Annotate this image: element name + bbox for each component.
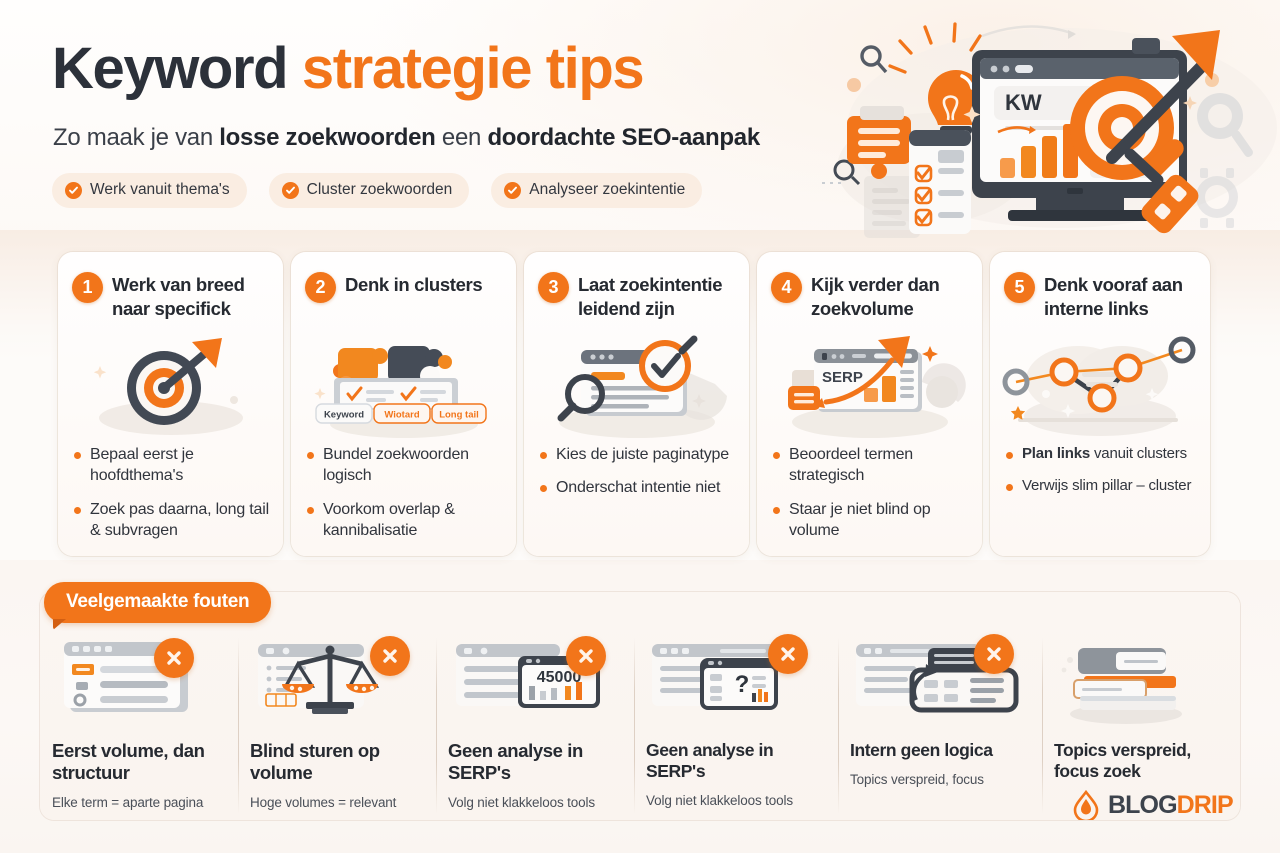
mistake-subtitle: Volg niet klakkeloos tools	[448, 795, 622, 810]
page-title-part1: Keyword	[52, 36, 287, 101]
serp-label: SERP	[822, 369, 863, 386]
step-bullets: Kies de juiste paginatype Onderschat int…	[540, 444, 737, 511]
question-mark: ?	[735, 671, 750, 698]
bullet-dot	[540, 452, 547, 459]
brand-part1: BLOG	[1108, 791, 1177, 819]
step-card-header: 1 Werk van breed naar specifick	[72, 272, 273, 321]
step-bullets: Bepaal eerst je hoofdthema's Zoek pas da…	[74, 444, 271, 553]
step-number-badge: 4	[771, 272, 802, 303]
bullet-bold: Plan links	[1022, 445, 1090, 462]
brand-logo: BLOGDRIP	[1073, 790, 1233, 820]
step-card-2[interactable]: 2 Denk in clusters	[291, 252, 516, 556]
step-bullets: Beoordeel termen strategisch Staar je ni…	[773, 444, 970, 553]
hero-pill-row: Werk vanuit thema's Cluster zoekwoorden …	[52, 173, 702, 208]
bullet-dot	[540, 485, 547, 492]
x-circle-icon	[154, 638, 194, 678]
hero-pill-themes[interactable]: Werk vanuit thema's	[52, 173, 247, 208]
step-card-title: Laat zoekintentie leidend zijn	[578, 272, 739, 321]
bullet-dot	[74, 452, 81, 459]
list-item: Verwijs slim pillar – cluster	[1006, 476, 1198, 496]
list-item: Plan links vanuit clusters	[1006, 444, 1198, 464]
bullet-text: Bundel zoekwoorden logisch	[323, 444, 504, 487]
step-number-badge: 5	[1004, 272, 1035, 303]
volume-chart-icon: 45000	[448, 634, 622, 726]
step-card-header: 4 Kijk verder dan zoekvolume	[771, 272, 972, 321]
bullet-text: Kies de juiste paginatype	[556, 444, 729, 465]
step-number-badge: 1	[72, 272, 103, 303]
bullet-text: Staar je niet blind op volume	[789, 499, 970, 542]
serp-growth-chart-icon: SERP	[767, 332, 972, 440]
target-arrow-icon	[68, 332, 273, 440]
bullet-dot	[74, 507, 81, 514]
mistakes-grid: Eerst volume, dan structuur Elke term = …	[40, 634, 1240, 820]
hero-pill-label: Werk vanuit thema's	[90, 181, 230, 199]
cluster-tag-2: Wiotard	[384, 410, 419, 421]
mistake-card-1[interactable]: Eerst volume, dan structuur Elke term = …	[40, 634, 238, 820]
mistake-title: Geen analyse in SERP's	[448, 740, 622, 784]
step-number-badge: 3	[538, 272, 569, 303]
bullet-text: Beoordeel termen strategisch	[789, 444, 970, 487]
mistake-title: Geen analyse in SERP's	[646, 740, 826, 782]
subtitle-bold-2: doordachte SEO-aanpak	[487, 124, 759, 151]
page-subtitle: Zo maak je van losse zoekwoorden een doo…	[53, 124, 760, 152]
cluster-tag-1: Keyword	[323, 410, 363, 421]
step-card-title: Kijk verder dan zoekvolume	[811, 272, 972, 321]
list-item: Zoek pas daarna, long tail & subvragen	[74, 499, 271, 542]
x-circle-icon	[768, 634, 808, 674]
list-item: Onderschat intentie niet	[540, 477, 737, 498]
x-circle-icon	[370, 636, 410, 676]
bullet-dot	[1006, 484, 1013, 491]
bullet-dot	[307, 452, 314, 459]
hero-pill-intent[interactable]: Analyseer zoekintentie	[491, 173, 702, 208]
page-title-part2: strategie tips	[302, 36, 643, 101]
mistake-subtitle: Volg niet klakkeloos tools	[646, 793, 826, 808]
hero-illustration: KW	[812, 8, 1280, 240]
check-circle-icon	[504, 182, 521, 199]
puzzle-pieces-icon: Keyword Wiotard Long tail	[301, 332, 506, 440]
question-serp-icon: ?	[646, 634, 826, 726]
subtitle-lead: Zo maak je van	[53, 124, 219, 151]
brand-wordmark: BLOGDRIP	[1108, 791, 1233, 820]
bullet-rest: vanuit clusters	[1090, 445, 1187, 462]
stacked-books-icon	[1054, 634, 1228, 726]
x-circle-icon	[974, 634, 1014, 674]
bullet-dot	[1006, 452, 1013, 459]
mistake-title: Intern geen logica	[850, 740, 1030, 761]
browser-list-icon	[52, 634, 226, 726]
bullet-text: Zoek pas daarna, long tail & subvragen	[90, 499, 271, 542]
mistake-card-5[interactable]: Intern geen logica Topics verspreid, foc…	[838, 634, 1042, 820]
x-circle-icon	[566, 636, 606, 676]
bullet-text: Voorkom overlap & kannibalisatie	[323, 499, 504, 542]
list-item: Bundel zoekwoorden logisch	[307, 444, 504, 487]
bullet-dot	[307, 507, 314, 514]
check-circle-icon	[282, 182, 299, 199]
page-title: Keyword strategie tips	[52, 40, 643, 98]
link-network-icon	[1000, 332, 1200, 440]
step-card-4[interactable]: 4 Kijk verder dan zoekvolume SERP	[757, 252, 982, 556]
hero-pill-cluster[interactable]: Cluster zoekwoorden	[269, 173, 470, 208]
mistake-card-2[interactable]: Blind sturen op volume Hoge volumes = re…	[238, 634, 436, 820]
bullet-text: Plan links vanuit clusters	[1022, 444, 1187, 464]
mistake-title: Eerst volume, dan structuur	[52, 740, 226, 784]
bullet-dot	[773, 452, 780, 459]
step-card-title: Werk van breed naar specifick	[112, 272, 273, 321]
list-item: Kies de juiste paginatype	[540, 444, 737, 465]
mistake-title: Topics verspreid, focus zoek	[1054, 740, 1228, 782]
hero-search-value: KW	[1005, 90, 1042, 115]
list-item: Voorkom overlap & kannibalisatie	[307, 499, 504, 542]
internal-links-icon	[850, 634, 1030, 726]
step-card-title: Denk in clusters	[345, 272, 482, 303]
subtitle-bold-1: losse zoekwoorden	[219, 124, 435, 151]
bullet-text: Onderschat intentie niet	[556, 477, 720, 498]
mistake-title: Blind sturen op volume	[250, 740, 424, 784]
hero-pill-label: Analyseer zoekintentie	[529, 181, 685, 199]
mistakes-badge: Veelgemaakte fouten	[44, 582, 271, 623]
step-card-1[interactable]: 1 Werk van breed naar specifick Bepaal e…	[58, 252, 283, 556]
hero-section: Keyword strategie tips Zo maak je van lo…	[0, 0, 1280, 246]
step-card-5[interactable]: 5 Denk vooraf aan interne links	[990, 252, 1210, 556]
bullet-text: Verwijs slim pillar – cluster	[1022, 476, 1191, 496]
mistake-card-4[interactable]: ? Geen analyse in SERP's Volg niet klakk…	[634, 634, 838, 820]
bullet-dot	[773, 507, 780, 514]
step-card-3[interactable]: 3 Laat zoekintentie leidend zijn	[524, 252, 749, 556]
hero-pill-label: Cluster zoekwoorden	[307, 181, 453, 199]
mistake-subtitle: Topics verspreid, focus	[850, 772, 1030, 787]
mistake-card-3[interactable]: 45000 Geen analyse in SERP's Volg niet k…	[436, 634, 634, 820]
scales-balance-icon	[250, 634, 424, 726]
step-card-title: Denk vooraf aan interne links	[1044, 272, 1200, 321]
mistakes-section: Veelgemaakte fouten	[40, 592, 1240, 820]
step-number-badge: 2	[305, 272, 336, 303]
steps-section: 1 Werk van breed naar specifick Bepaal e…	[0, 252, 1280, 562]
step-card-header: 5 Denk vooraf aan interne links	[1004, 272, 1200, 321]
mistake-subtitle: Elke term = aparte pagina	[52, 795, 226, 810]
brand-part2: DRIP	[1177, 791, 1233, 819]
step-card-header: 2 Denk in clusters	[305, 272, 506, 303]
mistake-subtitle: Hoge volumes = relevant	[250, 795, 424, 810]
list-item: Beoordeel termen strategisch	[773, 444, 970, 487]
cluster-tag-3: Long tail	[439, 410, 479, 421]
water-drop-icon	[1073, 790, 1099, 820]
step-bullets: Bundel zoekwoorden logisch Voorkom overl…	[307, 444, 504, 553]
bullet-text: Bepaal eerst je hoofdthema's	[90, 444, 271, 487]
step-card-header: 3 Laat zoekintentie leidend zijn	[538, 272, 739, 321]
list-item: Staar je niet blind op volume	[773, 499, 970, 542]
step-bullets: Plan links vanuit clusters Verwijs slim …	[1006, 444, 1198, 508]
document-magnifier-check-icon	[534, 332, 739, 440]
check-circle-icon	[65, 182, 82, 199]
subtitle-mid: een	[436, 124, 488, 151]
list-item: Bepaal eerst je hoofdthema's	[74, 444, 271, 487]
